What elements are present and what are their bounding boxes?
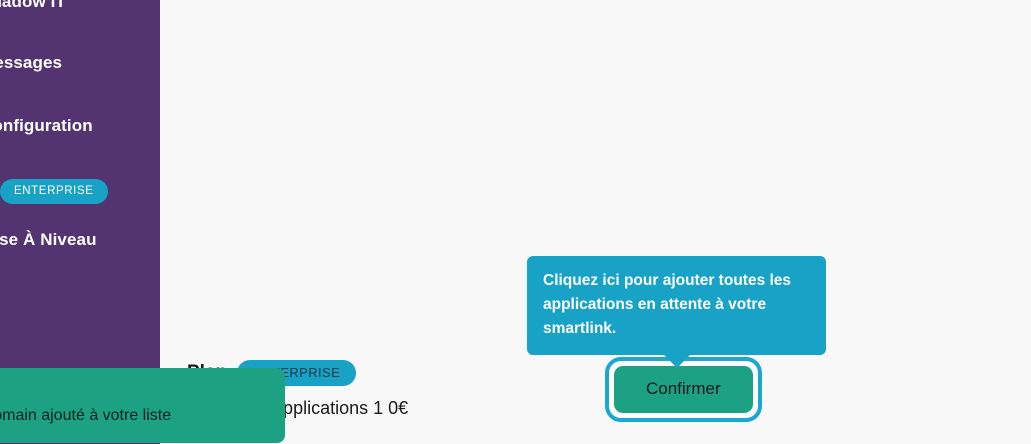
- sidebar-item-shadow-it[interactable]: Shadow IT: [0, 0, 66, 12]
- sidebar-item-configuration[interactable]: Configuration: [0, 116, 93, 136]
- sidebar-item-label: Mise À Niveau: [0, 230, 97, 249]
- main-content: Plan ENTERPRISE Toutes les applications …: [160, 0, 1031, 444]
- tooltip-arrow-icon: [663, 354, 691, 368]
- onboarding-tooltip: Cliquez ici pour ajouter toutes les appl…: [527, 256, 826, 355]
- sidebar-item-messages[interactable]: Messages: [0, 53, 62, 73]
- confirm-button[interactable]: Confirmer: [614, 366, 753, 413]
- sidebar-item-label: Messages: [0, 53, 62, 72]
- toast-title: App ajoutée: [0, 384, 265, 402]
- sidebar-item-mise-a-niveau[interactable]: Mise À Niveau: [0, 230, 97, 250]
- tooltip-text: Cliquez ici pour ajouter toutes les appl…: [543, 269, 810, 341]
- sidebar-enterprise-badge: ENTERPRISE: [0, 179, 108, 204]
- sidebar-item-label: Configuration: [0, 116, 93, 135]
- sidebar-item-label: Shadow IT: [0, 0, 66, 11]
- toast-message: Example Domain ajouté à votre liste: [0, 407, 265, 425]
- toast-notification[interactable]: App ajoutée Example Domain ajouté à votr…: [0, 368, 285, 443]
